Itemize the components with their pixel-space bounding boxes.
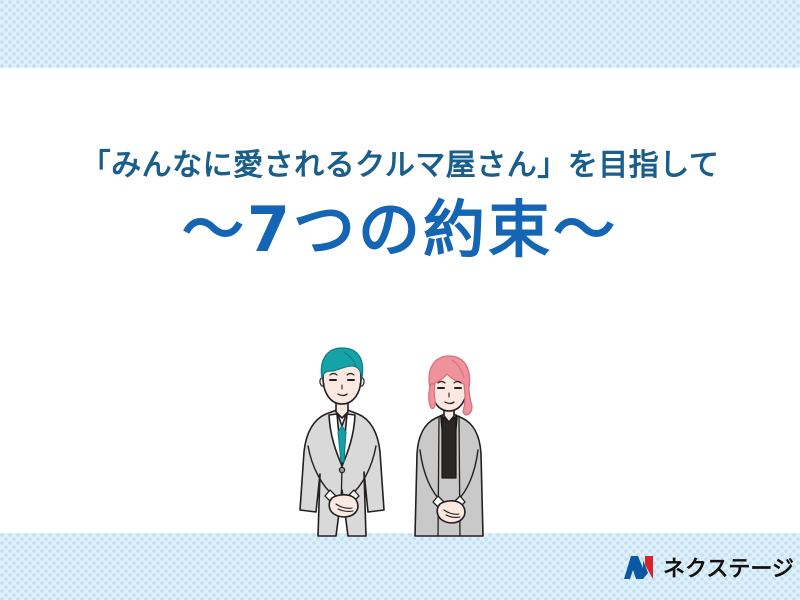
nexstage-n-mark xyxy=(622,554,656,581)
slide-subtitle: 「みんなに愛されるクルマ屋さん」を目指して xyxy=(0,148,800,183)
slide-headline: 〜7つの約束〜 xyxy=(0,197,800,262)
top-dot-band xyxy=(0,0,800,68)
slide-canvas: 「みんなに愛されるクルマ屋さん」を目指して 〜7つの約束〜 xyxy=(0,0,800,600)
nexstage-logo: ネクステージ xyxy=(622,550,794,584)
male-staff-figure xyxy=(300,348,384,536)
female-staff-figure xyxy=(415,356,483,536)
two-bowing-staff-illustration xyxy=(296,340,508,540)
headline-block: 「みんなに愛されるクルマ屋さん」を目指して 〜7つの約束〜 xyxy=(0,148,800,262)
logo-text: ネクステージ xyxy=(663,551,794,583)
